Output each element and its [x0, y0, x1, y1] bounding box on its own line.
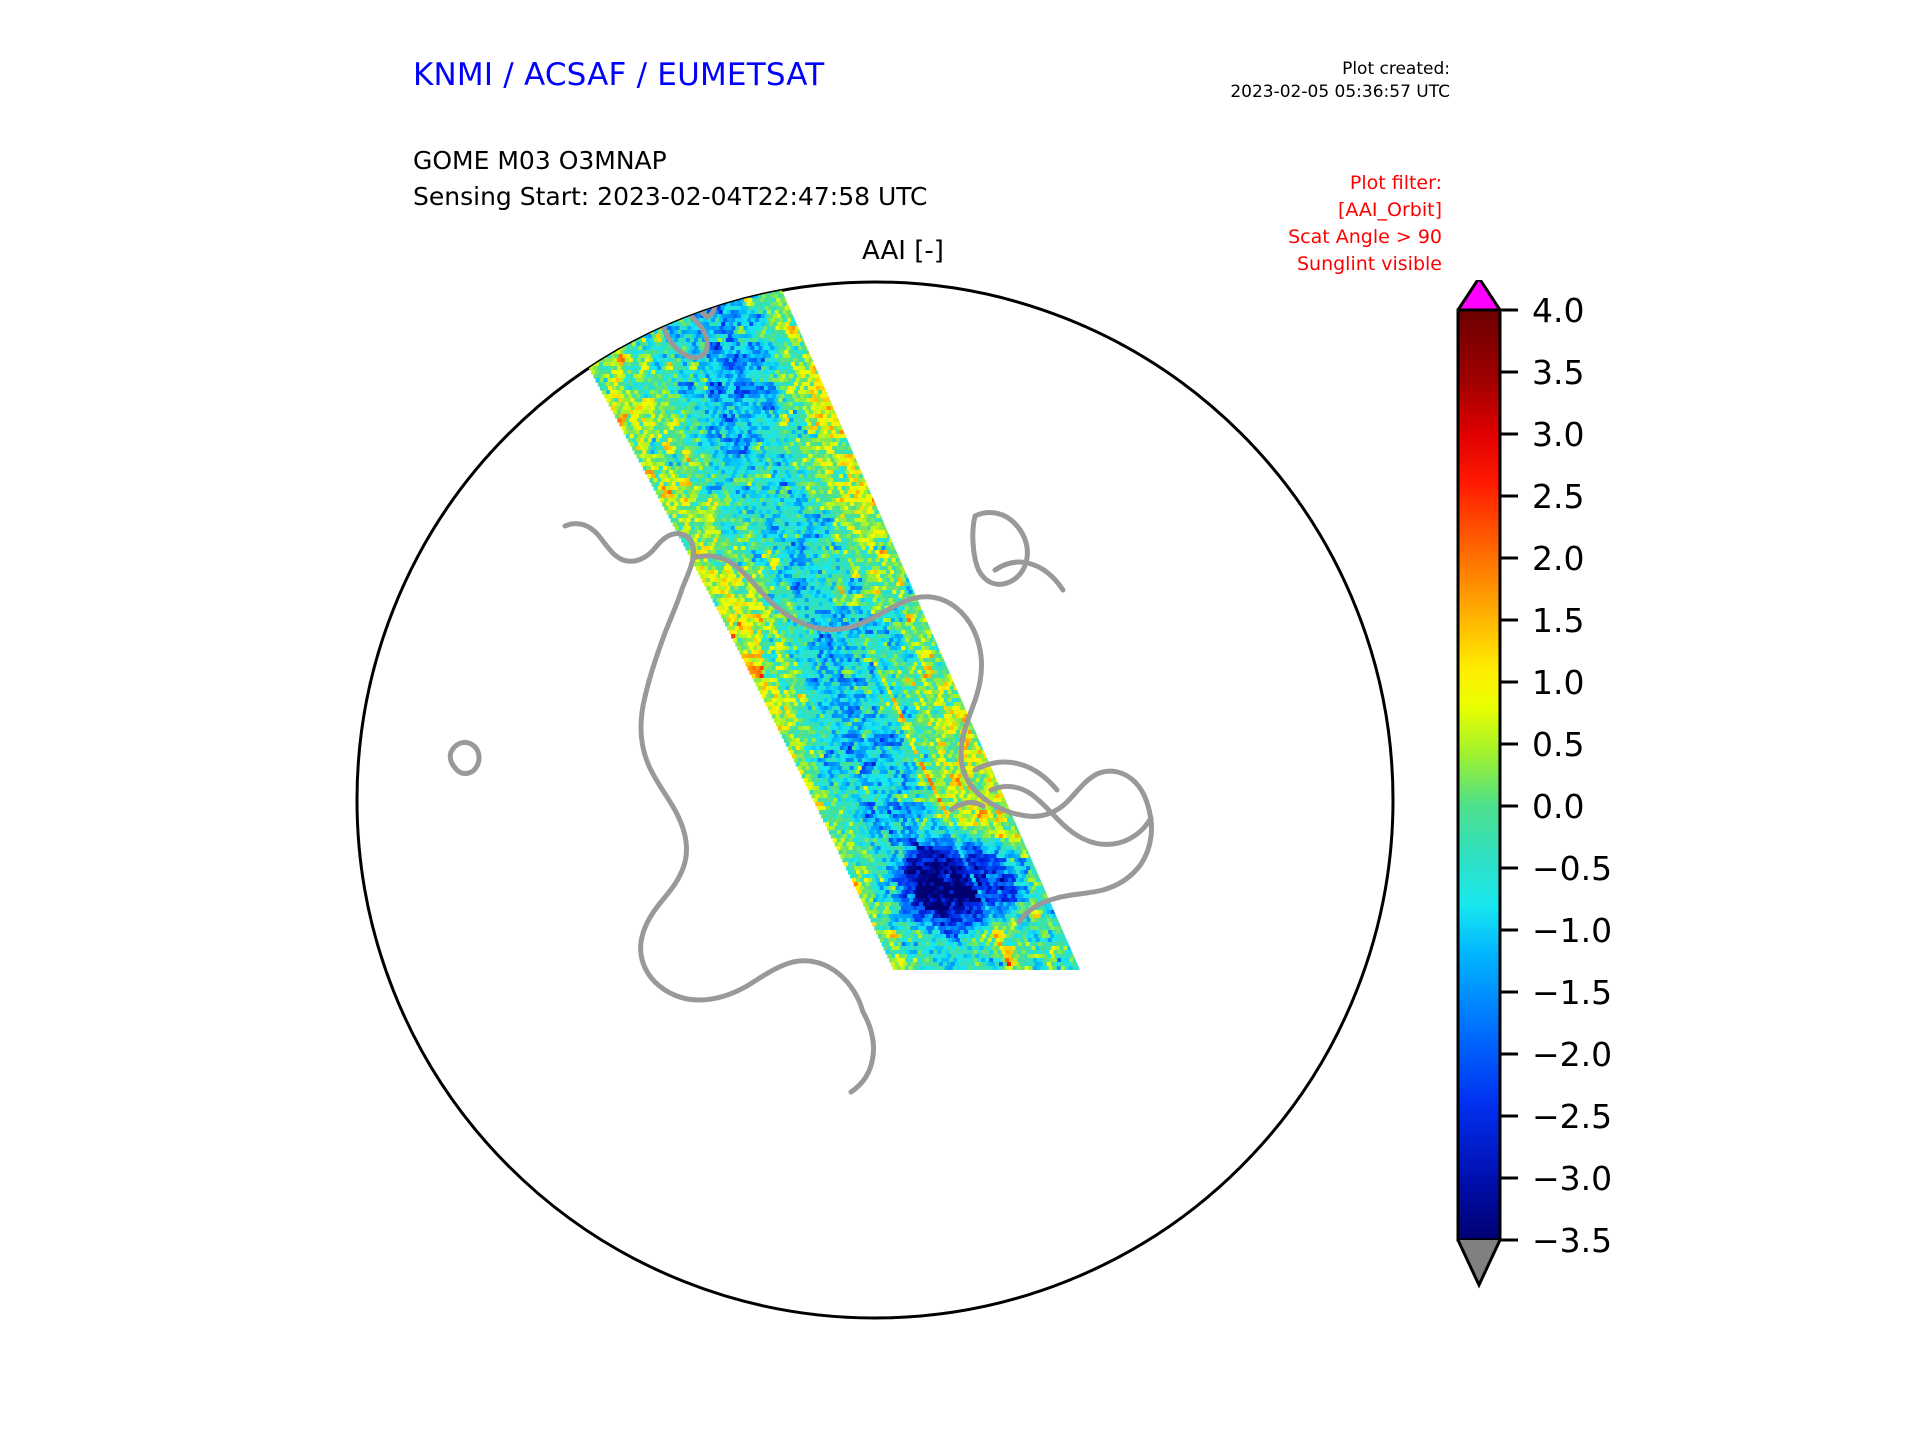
colorbar-tick-label: 2.5 — [1532, 477, 1584, 516]
colorbar-tick-label: −3.5 — [1532, 1221, 1612, 1260]
colorbar-ticks: 4.03.53.02.52.01.51.00.50.0−0.5−1.0−1.5−… — [1500, 291, 1612, 1260]
colorbar-gradient-bar — [1458, 310, 1500, 1240]
colorbar-tick-label: 1.5 — [1532, 601, 1584, 640]
colorbar-tick-label: 0.5 — [1532, 725, 1584, 764]
colorbar-tick-label: 3.0 — [1532, 415, 1584, 454]
colorbar-tick-label: −2.5 — [1532, 1097, 1612, 1136]
colorbar-tick-label: 3.5 — [1532, 353, 1584, 392]
colorbar-tick-label: −2.0 — [1532, 1035, 1612, 1074]
plot-filter-title: Plot filter: — [1288, 170, 1442, 197]
plot-created-block: Plot created: 2023-02-05 05:36:57 UTC — [1230, 58, 1450, 104]
colorbar-area: 4.03.53.02.52.01.51.00.50.0−0.5−1.0−1.5−… — [1440, 280, 1710, 1330]
organisation-title: KNMI / ACSAF / EUMETSAT — [413, 57, 824, 93]
colorbar-tick-label: 1.0 — [1532, 663, 1584, 702]
colorbar-tick-label: 0.0 — [1532, 787, 1584, 826]
plot-filter-line-0: [AAI_Orbit] — [1288, 197, 1442, 224]
plot-filter-line-1: Scat Angle > 90 — [1288, 224, 1442, 251]
variable-title: AAI [-] — [862, 236, 944, 266]
colorbar-tick-label: 2.0 — [1532, 539, 1584, 578]
colorbar-under-range-arrow — [1458, 1240, 1500, 1285]
colorbar-over-range-arrow — [1458, 280, 1500, 310]
dataset-name: GOME M03 O3MNAP — [413, 143, 928, 179]
colorbar-tick-label: −1.0 — [1532, 911, 1612, 950]
colorbar-tick-label: −0.5 — [1532, 849, 1612, 888]
dataset-block: GOME M03 O3MNAP Sensing Start: 2023-02-0… — [413, 143, 928, 214]
colorbar-tick-label: −1.5 — [1532, 973, 1612, 1012]
plot-created-timestamp: 2023-02-05 05:36:57 UTC — [1230, 81, 1450, 104]
colorbar-tick-label: −3.0 — [1532, 1159, 1612, 1198]
colorbar-tick-label: 4.0 — [1532, 291, 1584, 330]
map-svg — [355, 270, 1395, 1330]
plot-created-label: Plot created: — [1230, 58, 1450, 81]
colorbar-svg: 4.03.53.02.52.01.51.00.50.0−0.5−1.0−1.5−… — [1440, 280, 1710, 1330]
plot-filter-block: Plot filter: [AAI_Orbit] Scat Angle > 90… — [1288, 170, 1442, 278]
map-plot-area — [355, 270, 1395, 1330]
sensing-start: Sensing Start: 2023-02-04T22:47:58 UTC — [413, 179, 928, 215]
